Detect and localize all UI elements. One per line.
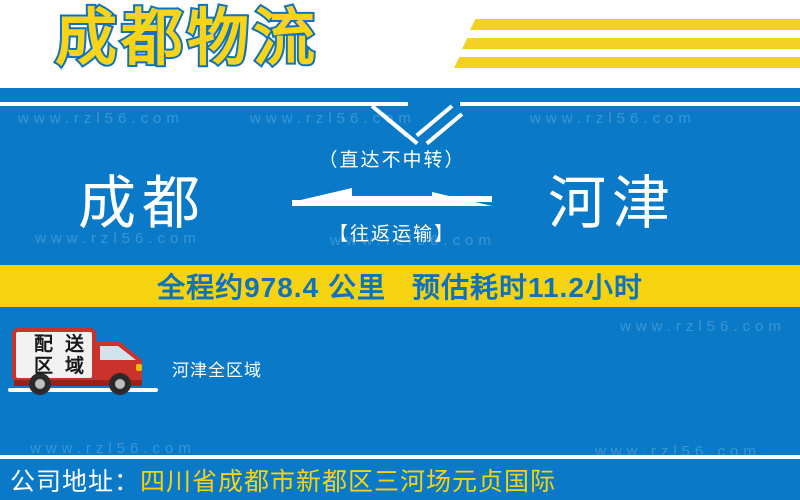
company-address: 公司地址：四川省成都市新都区三河场元贞国际 [10, 466, 556, 498]
distance-text: 全程约978.4 公里 [157, 266, 386, 306]
footer-divider [0, 455, 800, 459]
duration-text: 预估耗时11.2小时 [412, 266, 643, 306]
chevron-down-icon [372, 104, 452, 138]
route-middle: （直达不中转） 【往返运输】 [282, 148, 502, 268]
divider-line-right [460, 102, 800, 106]
origin-city: 成都 [78, 168, 206, 240]
route-note-top: （直达不中转） [282, 148, 502, 174]
route-row: 成都 （直达不中转） 【往返运输】 河津 [0, 148, 800, 268]
divider-line-left [0, 102, 408, 106]
delivery-truck-icon: 配 送 区 域 [8, 326, 158, 401]
stripe-3 [454, 57, 800, 68]
address-label: 公司地址： [10, 468, 140, 496]
page-title: 成都物流 [55, 3, 319, 75]
address-value: 四川省成都市新都区三河场元贞国际 [140, 468, 556, 496]
route-note-bottom: 【往返运输】 [282, 222, 502, 248]
logistics-banner: 成都物流 成都 （直达不中转） [0, 0, 800, 500]
info-band-text: 全程约978.4 公里 预估耗时11.2小时 [0, 265, 800, 307]
info-band: 全程约978.4 公里 预估耗时11.2小时 [0, 265, 800, 307]
delivery-row: 配 送 区 域 河津全区域 [0, 334, 800, 404]
destination-city: 河津 [548, 168, 676, 240]
body-panel: 成都 （直达不中转） 【往返运输】 河津 全程约978.4 公里 预估耗时11.… [0, 88, 800, 500]
bidirectional-arrow-icon [292, 178, 492, 218]
decorative-stripes [400, 0, 800, 88]
stripe-2 [462, 38, 800, 49]
stripe-1 [470, 19, 800, 30]
header-band: 成都物流 [0, 0, 800, 88]
delivery-area-text: 河津全区域 [172, 356, 262, 381]
